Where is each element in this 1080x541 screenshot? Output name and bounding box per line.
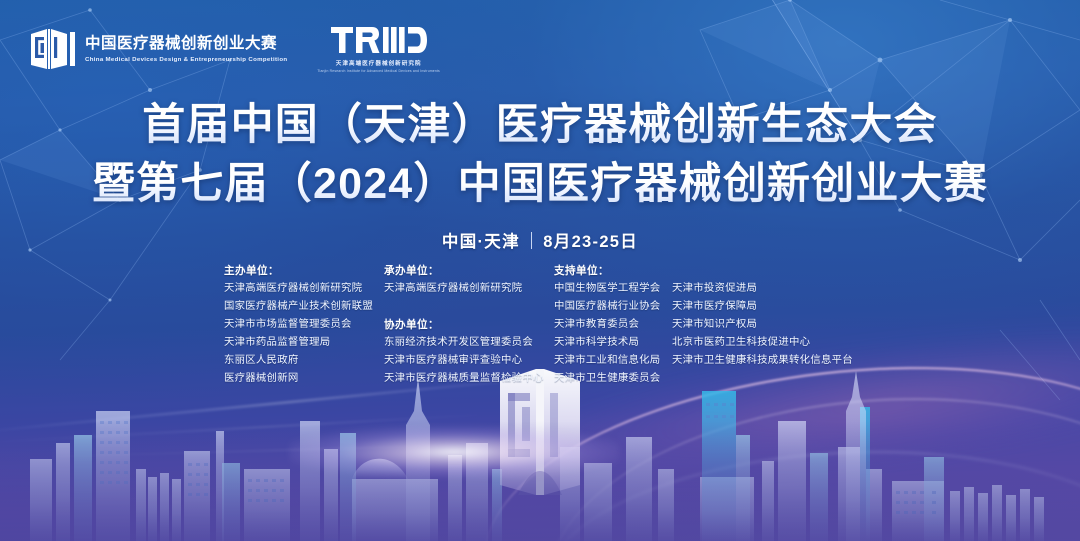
conference-banner-poster: 中国医疗器械创新创业大赛 China Medical Devices Desig… [0, 0, 1080, 541]
host-item: 东丽区人民政府 [224, 352, 384, 370]
column-spacer [384, 298, 554, 316]
support-column: 支持单位： 中国生物医学工程学会 中国医疗器械行业协会 天津市教育委员会 天津市… [554, 262, 853, 388]
coorganizer-heading: 协办单位： [384, 316, 554, 334]
title-line-2: 暨第七届（2024）中国医疗器械创新创业大赛 [0, 155, 1080, 214]
organizer-block: 主办单位： 天津高端医疗器械创新研究院 国家医疗器械产业技术创新联盟 天津市市场… [224, 262, 853, 388]
competition-name-cn: 中国医疗器械创新创业大赛 [85, 35, 287, 53]
host-item: 天津高端医疗器械创新研究院 [224, 280, 384, 298]
light-streak-ribbon-2 [535, 377, 1080, 541]
competition-logo[interactable]: 中国医疗器械创新创业大赛 China Medical Devices Desig… [30, 28, 287, 70]
institute-logo[interactable]: 天津高端医疗器械创新研究院 Tianjin Research Institute… [317, 24, 440, 73]
support-item: 天津市卫生健康委员会 [554, 370, 672, 388]
support-subcolumn-1: 中国生物医学工程学会 中国医疗器械行业协会 天津市教育委员会 天津市科学技术局 … [554, 280, 672, 388]
support-item: 天津市知识产权局 [672, 316, 853, 334]
support-item: 天津市卫生健康科技成果转化信息平台 [672, 352, 853, 370]
horizon-bloom [289, 426, 619, 478]
ground-haze [0, 421, 1080, 541]
host-item: 医疗器械创新网 [224, 370, 384, 388]
light-sweep-left-2 [0, 414, 496, 444]
organizer-heading: 承办单位： [384, 262, 554, 280]
support-grid: 中国生物医学工程学会 中国医疗器械行业协会 天津市教育委员会 天津市科学技术局 … [554, 280, 853, 388]
host-item: 国家医疗器械产业技术创新联盟 [224, 298, 384, 316]
competition-logo-text: 中国医疗器械创新创业大赛 China Medical Devices Desig… [85, 33, 287, 64]
host-item: 天津市市场监督管理委员会 [224, 316, 384, 334]
light-streak-ribbon-3 [538, 441, 1080, 541]
light-sweep-left-3 [22, 443, 519, 458]
host-heading: 主办单位： [224, 262, 384, 280]
poster-titles: 首届中国（天津）医疗器械创新生态大会 暨第七届（2024）中国医疗器械创新创业大… [0, 96, 1080, 215]
event-city: 中国·天津 [442, 228, 520, 252]
coorganizer-item: 东丽经济技术开发区管理委员会 [384, 334, 554, 352]
organizer-column: 承办单位： 天津高端医疗器械创新研究院 协办单位： 东丽经济技术开发区管理委员会… [384, 262, 554, 388]
host-item: 天津市药品监督管理局 [224, 334, 384, 352]
support-item: 中国医疗器械行业协会 [554, 298, 672, 316]
support-item: 天津市科学技术局 [554, 334, 672, 352]
event-date: 8月23-25日 [543, 228, 638, 252]
support-heading: 支持单位： [554, 262, 853, 280]
coorganizer-item: 天津市医疗器械审评查验中心 [384, 352, 554, 370]
header-logo-bar: 中国医疗器械创新创业大赛 China Medical Devices Desig… [30, 24, 440, 73]
meta-separator [531, 232, 532, 249]
title-line-1: 首届中国（天津）医疗器械创新生态大会 [0, 96, 1080, 155]
support-item: 天津市投资促进局 [672, 280, 853, 298]
host-column: 主办单位： 天津高端医疗器械创新研究院 国家医疗器械产业技术创新联盟 天津市市场… [224, 262, 384, 388]
support-item: 天津市教育委员会 [554, 316, 672, 334]
support-subcolumn-2: 天津市投资促进局 天津市医疗保障局 天津市知识产权局 北京市医药卫生科技促进中心… [672, 280, 853, 388]
open-book-mark-icon [30, 28, 76, 70]
support-item: 北京市医药卫生科技促进中心 [672, 334, 853, 352]
institute-name-en: Tianjin Research Institute for Advanced … [317, 69, 440, 73]
coorganizer-item: 天津市医疗器械质量监督检验中心 [384, 370, 554, 388]
competition-name-en: China Medical Devices Design & Entrepren… [85, 56, 287, 64]
institute-name-cn: 天津高端医疗器械创新研究院 [336, 59, 422, 67]
triid-wordmark-icon [331, 25, 427, 55]
organizer-item: 天津高端医疗器械创新研究院 [384, 280, 554, 298]
support-item: 天津市医疗保障局 [672, 298, 853, 316]
event-meta: 中国·天津 8月23-25日 [0, 228, 1080, 252]
support-item: 中国生物医学工程学会 [554, 280, 672, 298]
support-item: 天津市工业和信息化局 [554, 352, 672, 370]
